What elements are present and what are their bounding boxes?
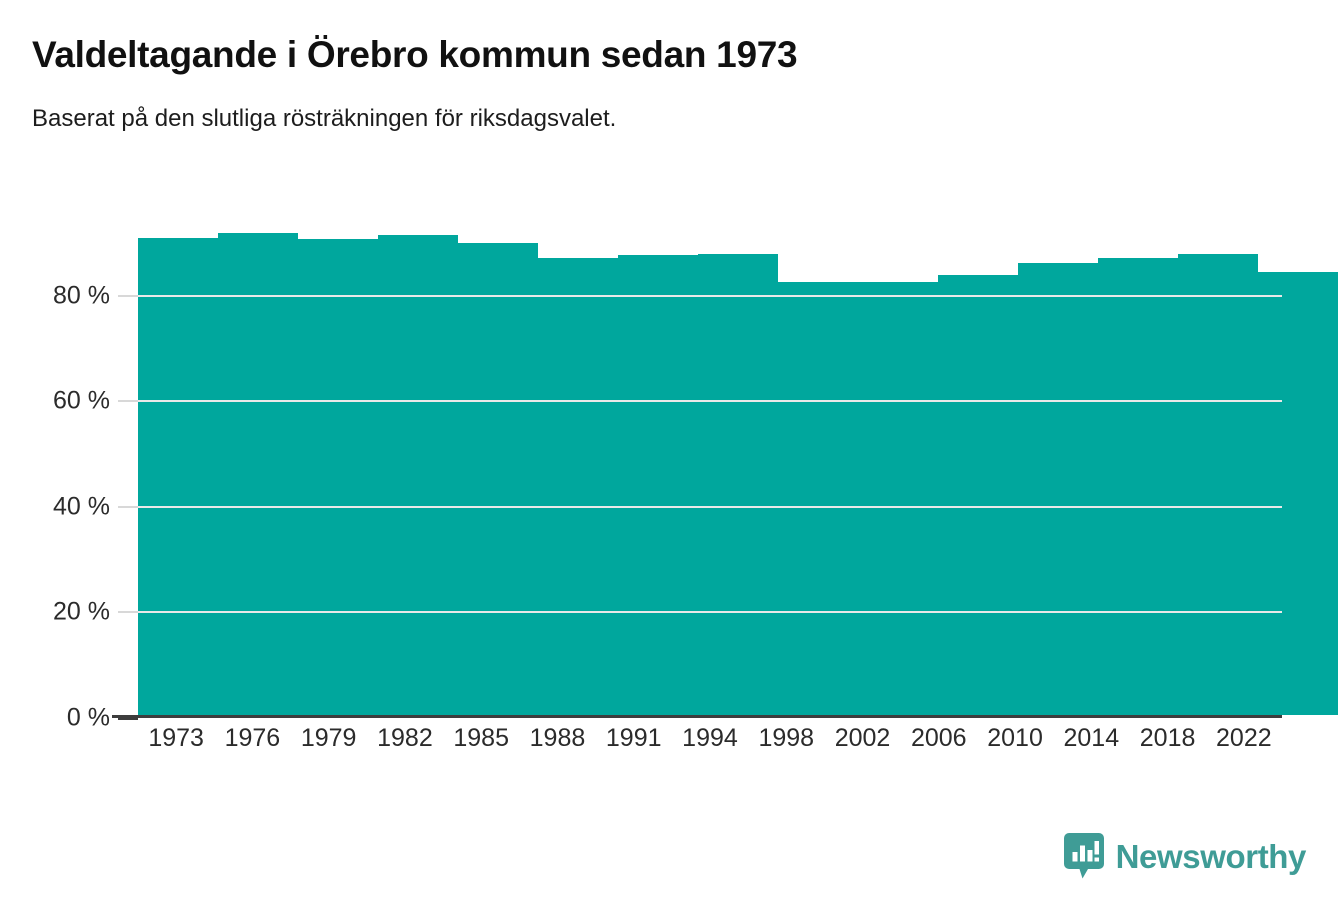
bar-slot [698, 190, 778, 715]
gridline [138, 295, 1282, 297]
x-tick-label: 2010 [987, 724, 1043, 752]
y-axis: 0 %20 %40 %60 %80 % [0, 190, 118, 718]
x-tick-label: 1998 [758, 724, 814, 752]
bar-slot [298, 190, 378, 715]
gridline [138, 506, 1282, 508]
x-tick-label: 1991 [606, 724, 662, 752]
x-tick-label: 1985 [453, 724, 509, 752]
x-tick-label: 1982 [377, 724, 433, 752]
y-tick-label: 40 % [53, 492, 110, 521]
y-tick-label: 0 % [67, 704, 110, 733]
x-tick-slot: 1985 [443, 724, 519, 753]
x-tick-label: 1973 [148, 724, 204, 752]
bar-2018[interactable] [1178, 254, 1258, 715]
newsworthy-logo[interactable]: Newsworthy [1064, 833, 1306, 879]
x-tick-slot: 1991 [596, 724, 672, 753]
y-tick-mark [118, 611, 138, 613]
chart-plot-area: 0 %20 %40 %60 %80 % 19731976197919821985… [0, 190, 1340, 770]
gridline [138, 611, 1282, 613]
bar-1988[interactable] [538, 258, 618, 715]
x-tick-slot: 2014 [1053, 724, 1129, 753]
bar-1982[interactable] [378, 235, 458, 715]
x-axis: 1973197619791982198519881991199419982002… [138, 724, 1282, 753]
bar-slot [858, 190, 938, 715]
bar-1991[interactable] [618, 255, 698, 715]
y-tick-label: 60 % [53, 387, 110, 416]
x-tick-slot: 1976 [214, 724, 290, 753]
bar-2006[interactable] [938, 275, 1018, 715]
bar-2022[interactable] [1258, 272, 1338, 715]
chart-page: Valdeltagande i Örebro kommun sedan 1973… [0, 0, 1340, 913]
x-axis-line [112, 715, 1282, 718]
y-tick-label: 20 % [53, 598, 110, 627]
bar-slot [378, 190, 458, 715]
y-tick-mark [118, 400, 138, 402]
page-subtitle: Baserat på den slutliga rösträkningen fö… [32, 77, 1308, 134]
bar-slot [778, 190, 858, 715]
bar-1973[interactable] [138, 238, 218, 715]
bar-2014[interactable] [1098, 258, 1178, 715]
y-tick-label: 80 % [53, 281, 110, 310]
gridline [138, 400, 1282, 402]
x-tick-slot: 2010 [977, 724, 1053, 753]
page-title: Valdeltagande i Örebro kommun sedan 1973 [32, 34, 1308, 77]
x-tick-slot: 2018 [1129, 724, 1205, 753]
newsworthy-wordmark: Newsworthy [1116, 840, 1306, 873]
x-tick-slot: 1988 [519, 724, 595, 753]
bar-series [138, 190, 1282, 715]
bar-slot [458, 190, 538, 715]
x-tick-slot: 2002 [824, 724, 900, 753]
bar-slot [138, 190, 218, 715]
x-tick-slot: 1973 [138, 724, 214, 753]
bar-slot [538, 190, 618, 715]
x-tick-label: 2018 [1140, 724, 1196, 752]
x-tick-label: 1976 [225, 724, 281, 752]
x-tick-slot: 2006 [901, 724, 977, 753]
x-tick-slot: 2022 [1206, 724, 1282, 753]
x-tick-slot: 1982 [367, 724, 443, 753]
y-tick-mark [118, 295, 138, 297]
bar-1985[interactable] [458, 243, 538, 716]
x-tick-label: 2006 [911, 724, 967, 752]
newsworthy-bar-chart-bubble-icon [1064, 833, 1104, 879]
y-tick-mark [118, 506, 138, 508]
x-tick-slot: 1994 [672, 724, 748, 753]
bar-slot [1178, 190, 1258, 715]
bar-2010[interactable] [1018, 263, 1098, 715]
x-tick-label: 1994 [682, 724, 738, 752]
bar-1976[interactable] [218, 233, 298, 715]
x-tick-slot: 1979 [291, 724, 367, 753]
bar-2002[interactable] [858, 282, 938, 715]
x-tick-label: 1988 [530, 724, 586, 752]
bar-slot [1018, 190, 1098, 715]
bar-slot [938, 190, 1018, 715]
bar-1994[interactable] [698, 254, 778, 715]
chart-header: Valdeltagande i Örebro kommun sedan 1973… [32, 34, 1308, 133]
x-tick-label: 1979 [301, 724, 357, 752]
x-tick-label: 2002 [835, 724, 891, 752]
bar-slot [1258, 190, 1338, 715]
x-tick-label: 2014 [1064, 724, 1120, 752]
bar-slot [218, 190, 298, 715]
bar-slot [618, 190, 698, 715]
bar-1998[interactable] [778, 282, 858, 715]
x-tick-label: 2022 [1216, 724, 1272, 752]
x-tick-slot: 1998 [748, 724, 824, 753]
bar-slot [1098, 190, 1178, 715]
bar-1979[interactable] [298, 239, 378, 715]
chart-grid [138, 190, 1282, 718]
